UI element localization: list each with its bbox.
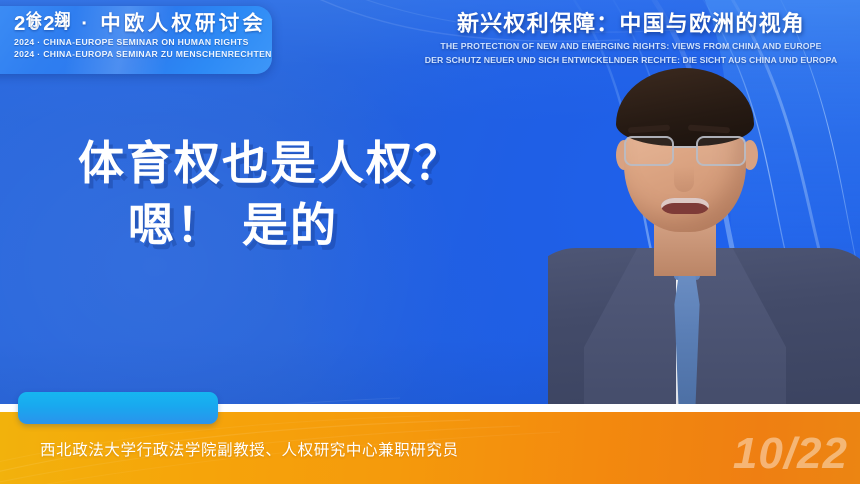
speaker-mouth xyxy=(661,198,709,214)
broadcast-date: 10/22 xyxy=(733,428,848,480)
headline-group: 体育权也是人权？ 嗯！ 是的 xyxy=(0,132,545,256)
speaker-name-text: 徐 翔 xyxy=(26,6,74,30)
headline-line-1: 体育权也是人权？ xyxy=(0,132,545,194)
seminar-theme-title-cn: 新兴权利保障：中国与欧洲的视角 xyxy=(416,10,846,37)
glasses-lens-right xyxy=(696,136,746,166)
speaker-bottom-fade xyxy=(548,386,860,406)
speaker-glasses xyxy=(622,136,748,168)
seminar-theme-group: 新兴权利保障：中国与欧洲的视角 THE PROTECTION OF NEW AN… xyxy=(416,10,846,67)
speaker-hair xyxy=(616,68,754,146)
speaker-nose xyxy=(674,166,694,192)
event-logo-subtitle-en: 2024 · CHINA-EUROPE SEMINAR ON HUMAN RIG… xyxy=(14,36,264,48)
glasses-bridge xyxy=(674,146,696,148)
broadcast-slide: 2024 · 中欧人权研讨会 2024 · CHINA-EUROPE SEMIN… xyxy=(0,0,860,484)
speaker-name-tab xyxy=(18,392,218,424)
speaker-title-text: 西北政法大学行政法学院副教授、人权研究中心兼职研究员 xyxy=(40,438,459,460)
headline-line-2: 嗯！ 是的 xyxy=(0,194,545,256)
glasses-lens-left xyxy=(624,136,674,166)
speaker-portrait xyxy=(548,62,860,406)
event-logo-subtitle-de: 2024 · CHINA-EUROPA SEMINAR ZU MENSCHENR… xyxy=(14,48,264,60)
seminar-theme-subtitle-en: THE PROTECTION OF NEW AND EMERGING RIGHT… xyxy=(416,39,846,53)
